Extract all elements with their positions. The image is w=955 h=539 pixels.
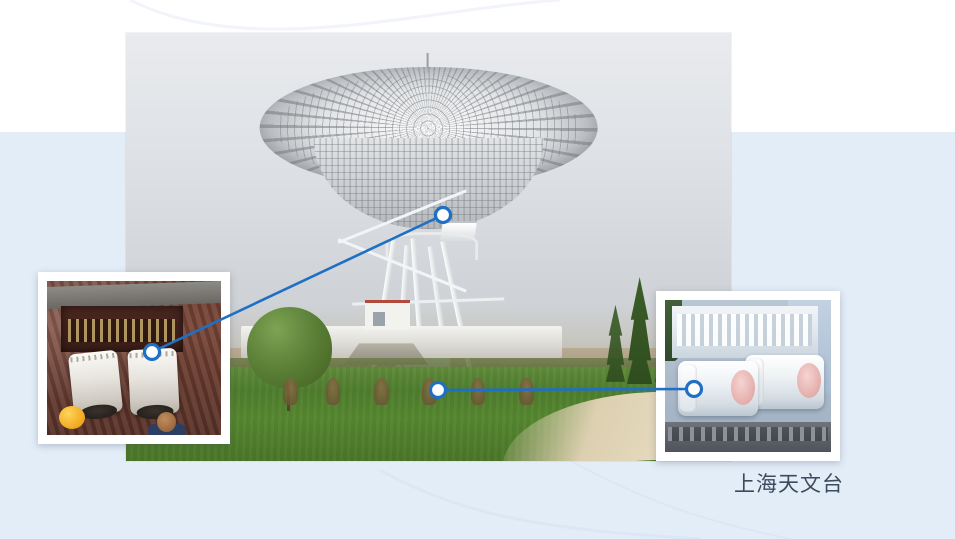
shrub <box>326 378 341 406</box>
shrub <box>283 378 298 406</box>
inset-new-drive-unit-image <box>665 300 831 452</box>
hard-hat <box>59 406 85 429</box>
dish-backup-structure <box>313 138 543 229</box>
control-hut <box>365 300 410 331</box>
machine-plinth <box>665 422 831 452</box>
shrub <box>422 378 437 406</box>
gearbox-upper-casing <box>672 306 818 358</box>
shrub <box>519 378 534 406</box>
gear-bay <box>61 306 183 352</box>
drive-motor-housing <box>127 348 179 415</box>
shrub <box>471 378 486 406</box>
shrub <box>374 378 389 406</box>
tree <box>247 307 332 388</box>
inset-new-drive-unit <box>656 291 840 461</box>
worker-head <box>157 412 176 432</box>
slide-canvas: 上海天文台 <box>0 0 955 539</box>
page-caption: 上海天文台 <box>734 468 844 498</box>
inset-old-drive-unit <box>38 272 230 444</box>
inset-old-drive-unit-image <box>47 281 221 435</box>
drive-motor-housing <box>678 361 758 416</box>
